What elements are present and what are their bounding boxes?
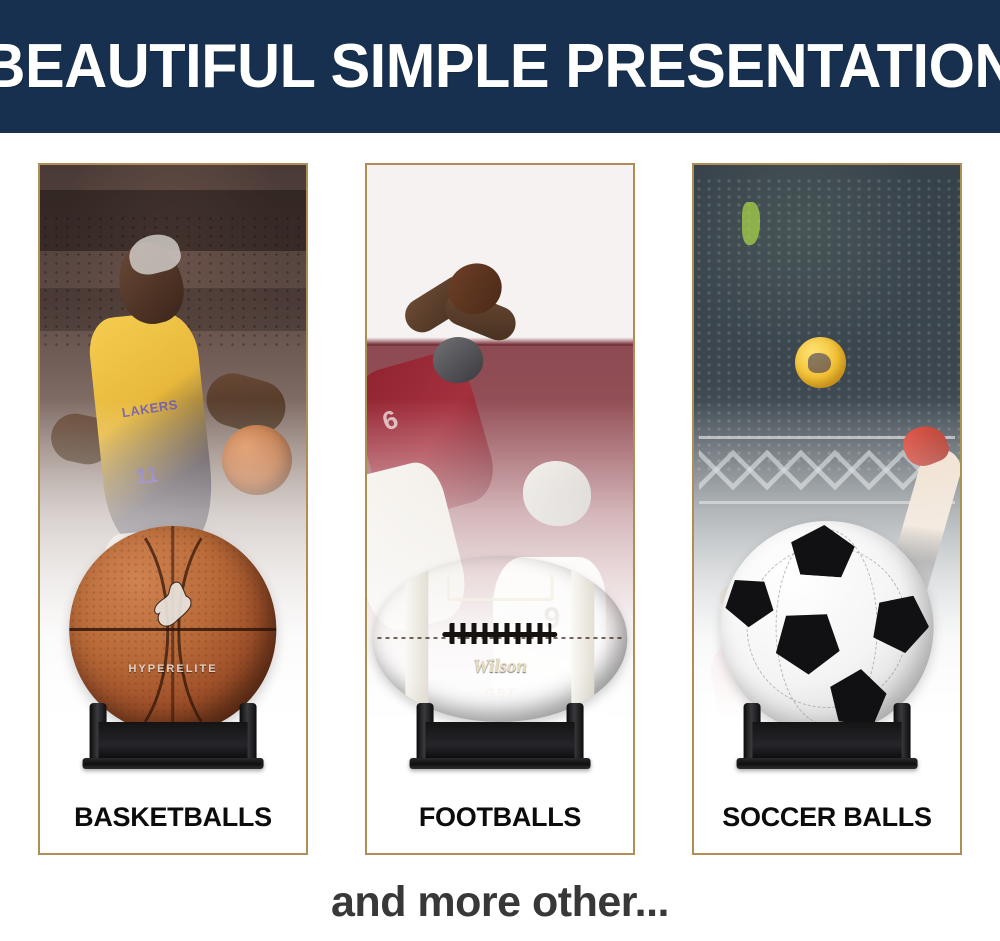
player-arm-left [47,410,117,470]
panel-stage-footballs: 6 9 [367,165,633,781]
panel-footballs[interactable]: 6 9 [365,163,635,855]
product-soccer-ball-on-stand [694,485,960,781]
jersey-number-front: 6 [378,404,402,438]
panel-stage-basketballs: LAKERS 11 [40,165,306,781]
presentation-page: BEAUTIFUL SIMPLE PRESENTATION LAKERS 11 [0,0,1000,941]
player-boot [898,419,953,472]
football-product-icon: Wilson GST [372,556,627,722]
in-action-soccer-ball [795,337,846,388]
football-panel-mark [446,575,553,601]
stand-base [83,758,264,769]
panel-caption-footballs: FOOTBALLS [367,781,633,853]
panel-soccer-balls[interactable]: GARNACHO [692,163,962,855]
football-laces [449,623,551,645]
footer-tagline: and more other... [331,878,669,927]
basketball-model-text: HYPERELITE [128,663,217,675]
football-brand-text: Wilson [473,656,527,678]
page-title: BEAUTIFUL SIMPLE PRESENTATION [0,36,1000,98]
crowd-texture [694,177,960,473]
product-football-on-stand: Wilson GST [367,485,633,781]
footer: and more other... [0,863,1000,941]
panel-caption-basketballs: BASKETBALLS [40,781,306,853]
player-arm-right [200,367,291,440]
panel-stage-soccer-balls: GARNACHO [694,165,960,781]
stand-plate [426,722,574,760]
stand-plate [99,722,247,760]
header-banner: BEAUTIFUL SIMPLE PRESENTATION [0,0,1000,133]
display-stand [410,701,591,769]
stand-base [410,758,591,769]
football-model-text: GST [484,685,516,701]
panel-basketballs[interactable]: LAKERS 11 [38,163,308,855]
product-basketball-on-stand: HYPERELITE [40,485,306,781]
display-stand [83,701,264,769]
stand-plate [753,722,901,760]
product-category-panels: LAKERS 11 [38,163,962,855]
panel-caption-soccer-balls: SOCCER BALLS [694,781,960,853]
stand-base [737,758,918,769]
display-stand [737,701,918,769]
jumpman-logo-icon [146,580,200,634]
